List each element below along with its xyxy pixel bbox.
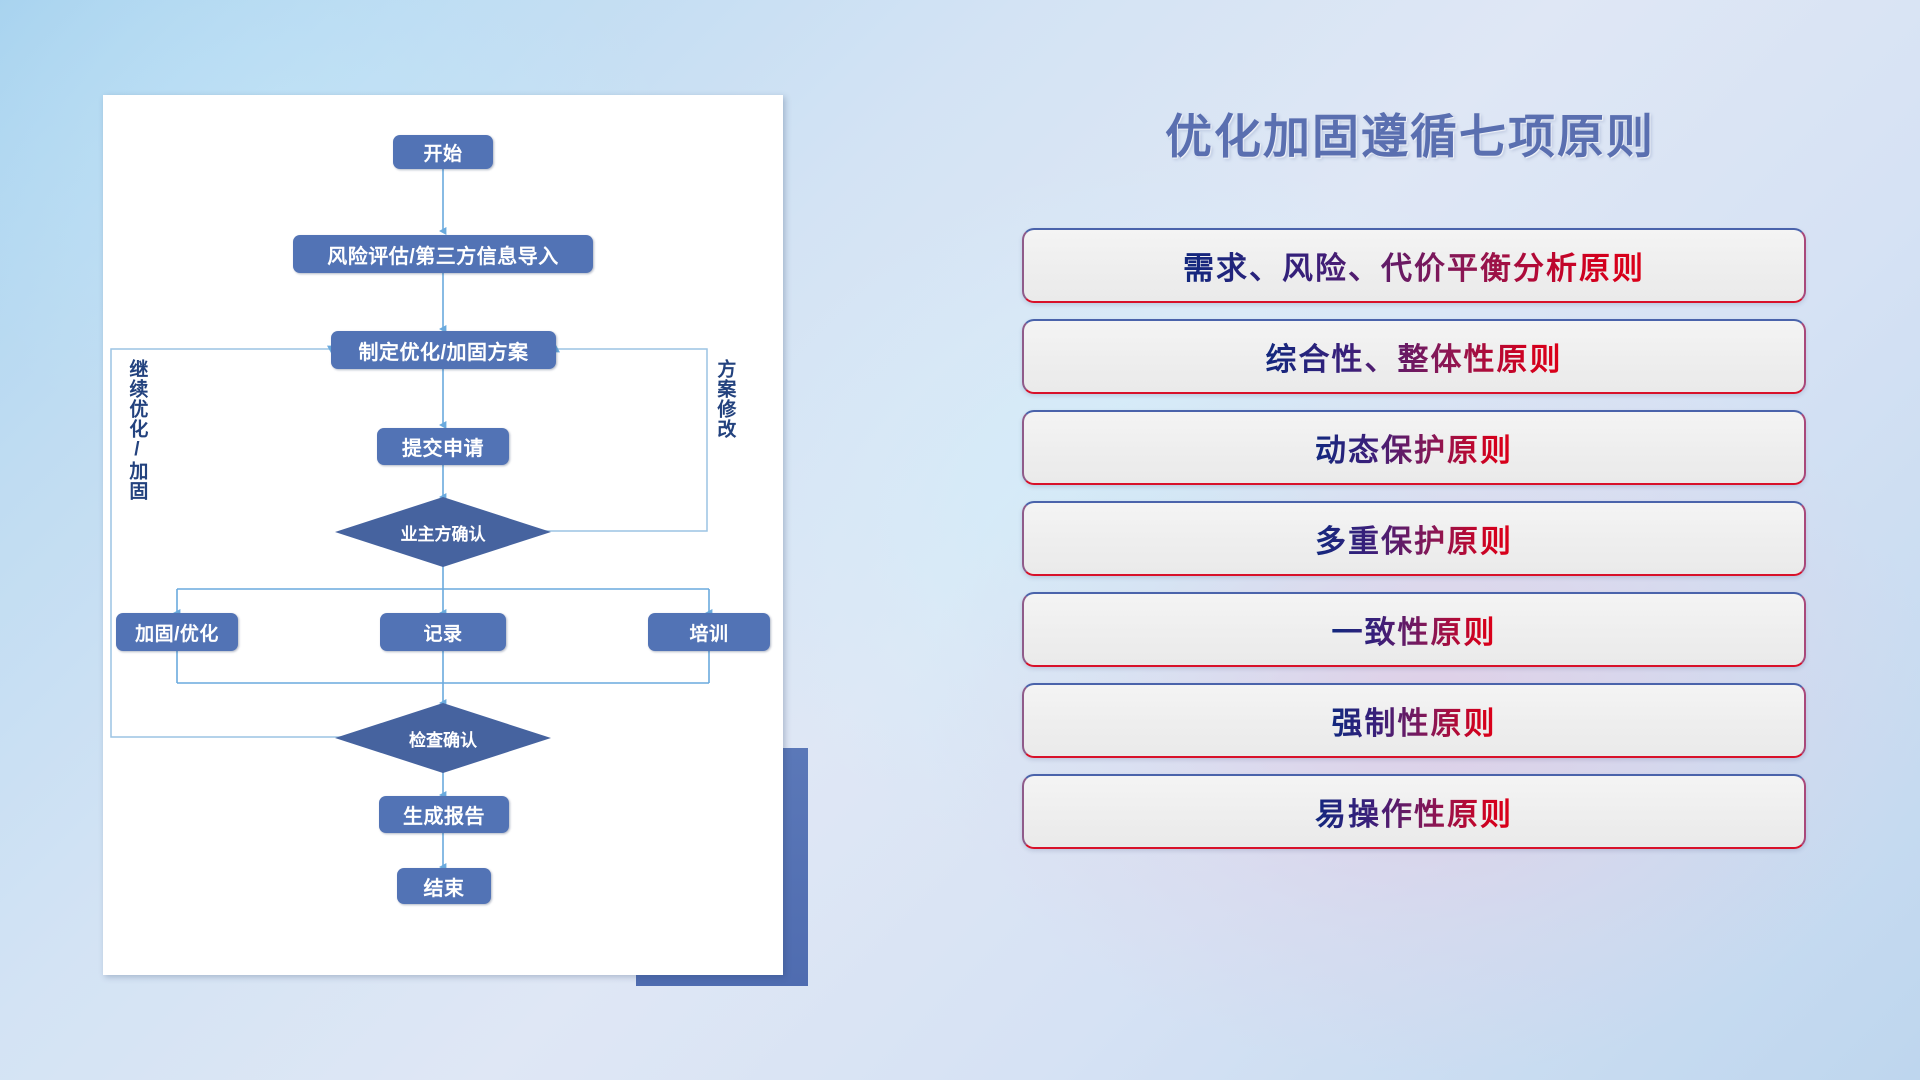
principle-item[interactable]: 易操作性原则 [1022, 774, 1806, 849]
flow-node-reinforce[interactable]: 加固/优化 [116, 613, 238, 651]
principle-item-label: 强制性原则 [1332, 698, 1497, 743]
principles-panel: 优化加固遵循七项原则 需求、风险、代价平衡分析原则 综合性、整体性原则 动态保护… [1000, 0, 1920, 1080]
principle-item-label: 易操作性原则 [1315, 789, 1513, 834]
flow-node-start[interactable]: 开始 [393, 135, 493, 169]
flow-node-record-label: 记录 [423, 619, 462, 646]
principle-item-label: 多重保护原则 [1315, 516, 1513, 561]
principle-item-label: 综合性、整体性原则 [1266, 334, 1563, 379]
flow-node-plan-label: 制定优化/加固方案 [358, 336, 528, 365]
flowchart-panel: 开始 风险评估/第三方信息导入 制定优化/加固方案 提交申请 业主方确认 加固/… [0, 0, 900, 1080]
principle-item[interactable]: 强制性原则 [1022, 683, 1806, 758]
flow-node-generate-report[interactable]: 生成报告 [379, 796, 509, 833]
flow-node-reinforce-label: 加固/优化 [135, 619, 219, 646]
principle-item-label: 需求、风险、代价平衡分析原则 [1183, 243, 1645, 288]
principle-item[interactable]: 综合性、整体性原则 [1022, 319, 1806, 394]
principle-item-label: 一致性原则 [1332, 607, 1497, 652]
flow-node-plan[interactable]: 制定优化/加固方案 [331, 331, 556, 369]
flow-node-training[interactable]: 培训 [648, 613, 770, 651]
flow-node-start-label: 开始 [423, 139, 462, 166]
flow-node-check-confirm[interactable]: 检查确认 [335, 703, 551, 773]
principles-title: 优化加固遵循七项原则 [1000, 98, 1820, 167]
flow-node-generate-report-label: 生成报告 [403, 800, 485, 829]
flow-node-end-label: 结束 [424, 872, 465, 901]
edge-label-plan-revision: 方案修改 [715, 359, 734, 439]
principle-item[interactable]: 动态保护原则 [1022, 410, 1806, 485]
flow-node-risk-assessment[interactable]: 风险评估/第三方信息导入 [293, 235, 593, 273]
slide-root: 开始 风险评估/第三方信息导入 制定优化/加固方案 提交申请 业主方确认 加固/… [0, 0, 1920, 1080]
flow-node-risk-assessment-label: 风险评估/第三方信息导入 [327, 240, 559, 269]
flow-node-record[interactable]: 记录 [380, 613, 506, 651]
flow-node-check-confirm-label: 检查确认 [409, 726, 477, 751]
flow-node-training-label: 培训 [689, 619, 728, 646]
flow-node-submit-application-label: 提交申请 [402, 432, 484, 461]
flow-node-owner-confirm[interactable]: 业主方确认 [335, 497, 551, 567]
flow-node-owner-confirm-label: 业主方确认 [401, 520, 486, 545]
principles-list: 需求、风险、代价平衡分析原则 综合性、整体性原则 动态保护原则 多重保护原则 一… [1022, 228, 1806, 865]
principle-item[interactable]: 多重保护原则 [1022, 501, 1806, 576]
flowchart-card: 开始 风险评估/第三方信息导入 制定优化/加固方案 提交申请 业主方确认 加固/… [103, 95, 783, 975]
principle-item-label: 动态保护原则 [1315, 425, 1513, 470]
principle-item[interactable]: 一致性原则 [1022, 592, 1806, 667]
flow-node-submit-application[interactable]: 提交申请 [377, 428, 509, 465]
flow-node-end[interactable]: 结束 [397, 868, 491, 904]
edge-label-continue-optimize: 继续优化/加固 [127, 359, 146, 501]
principle-item[interactable]: 需求、风险、代价平衡分析原则 [1022, 228, 1806, 303]
